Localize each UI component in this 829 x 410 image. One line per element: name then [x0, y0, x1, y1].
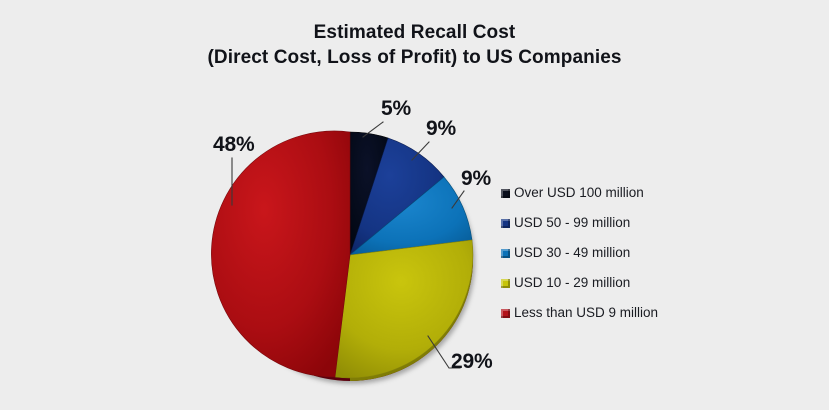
legend-swatch-icon [501, 219, 510, 228]
legend-label: USD 10 - 29 million [514, 276, 630, 290]
legend-item-less-than-usd-9-million[interactable]: Less than USD 9 million [501, 298, 658, 328]
legend-label: Less than USD 9 million [514, 306, 658, 320]
pie-data-label-usd-30-49-million: 9% [461, 167, 491, 191]
legend-label: Over USD 100 million [514, 186, 644, 200]
pie-data-label-over-usd-100-million: 5% [381, 97, 411, 121]
legend-item-usd-50-99-million[interactable]: USD 50 - 99 million [501, 208, 658, 238]
legend-item-over-usd-100-million[interactable]: Over USD 100 million [501, 178, 658, 208]
legend-item-usd-10-29-million[interactable]: USD 10 - 29 million [501, 268, 658, 298]
legend-label: USD 50 - 99 million [514, 216, 630, 230]
pie-slices [211, 131, 473, 378]
pie-data-label-less-than-usd-9-million: 48% [213, 133, 254, 157]
legend-swatch-icon [501, 189, 510, 198]
legend-swatch-icon [501, 249, 510, 258]
pie-data-label-usd-10-29-million: 29% [451, 350, 492, 374]
legend-swatch-icon [501, 309, 510, 318]
pie-chart: 48% 5% 9% 9% 29% [0, 0, 829, 410]
pie-data-label-usd-50-99-million: 9% [426, 117, 456, 141]
legend-label: USD 30 - 49 million [514, 246, 630, 260]
legend-swatch-icon [501, 279, 510, 288]
pie-chart-svg [0, 0, 829, 410]
legend-item-usd-30-49-million[interactable]: USD 30 - 49 million [501, 238, 658, 268]
chart-legend: Over USD 100 million USD 50 - 99 million… [501, 178, 658, 328]
chart-canvas: Estimated Recall Cost (Direct Cost, Loss… [0, 0, 829, 410]
